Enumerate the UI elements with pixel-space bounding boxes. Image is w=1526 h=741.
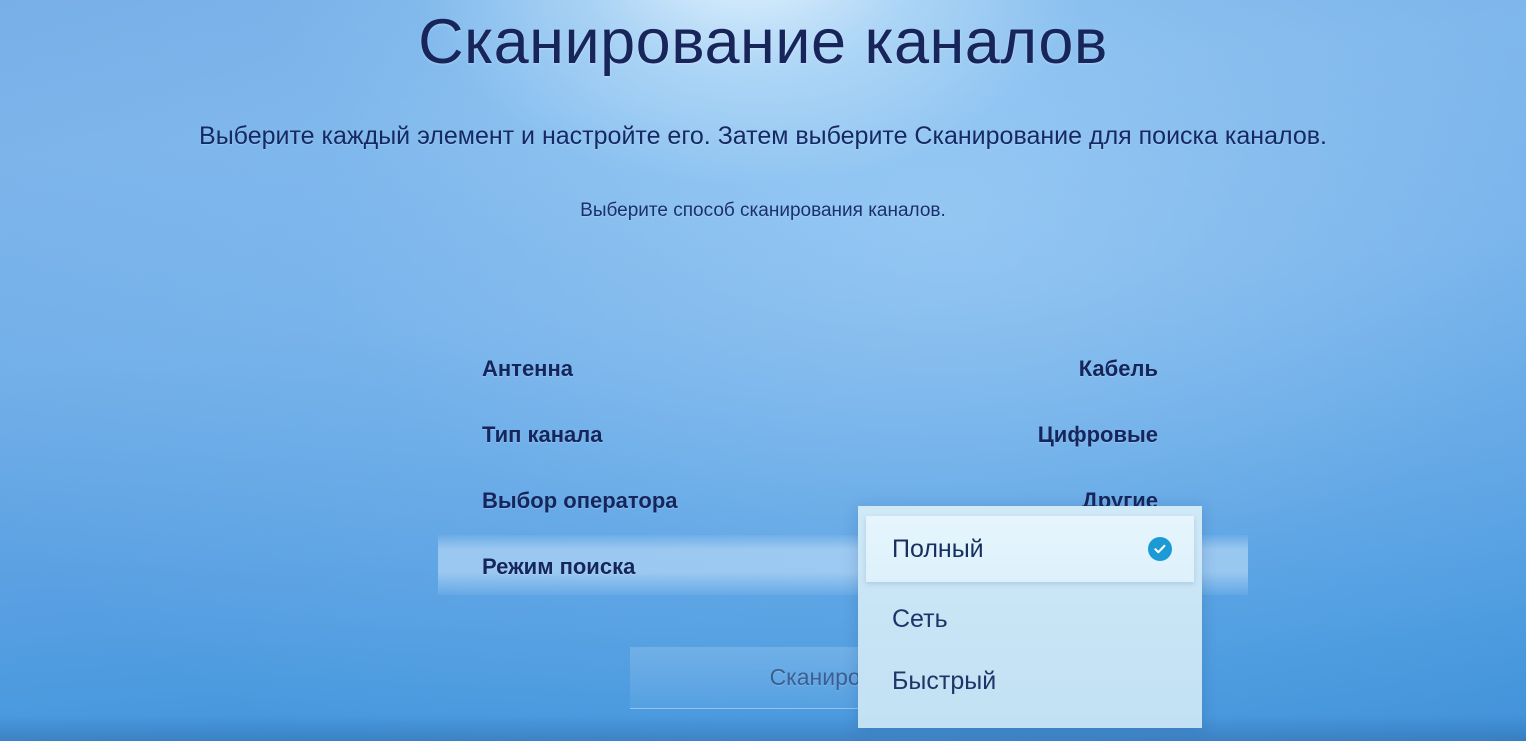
setting-label-channel-type: Тип канала [482, 422, 603, 448]
setting-label-operator: Выбор оператора [482, 488, 678, 514]
dropdown-option-full-label: Полный [892, 535, 984, 564]
page-hint: Выберите способ сканирования каналов. [313, 200, 1213, 222]
setting-label-search-mode: Режим поиска [482, 554, 635, 580]
setting-row-antenna[interactable]: Антенна Кабель [482, 336, 1158, 402]
setting-row-channel-type[interactable]: Тип канала Цифровые [482, 402, 1158, 468]
check-circle-icon [1148, 537, 1172, 561]
dropdown-option-full[interactable]: Полный [866, 516, 1194, 582]
dropdown-option-quick-label: Быстрый [892, 667, 996, 696]
setting-value-antenna: Кабель [1079, 356, 1158, 382]
setting-label-antenna: Антенна [482, 356, 573, 382]
search-mode-dropdown[interactable]: Полный Сеть Быстрый [858, 506, 1202, 728]
tv-channel-scan-screen: Сканирование каналов Выберите каждый эле… [0, 0, 1526, 741]
setting-value-channel-type: Цифровые [1038, 422, 1158, 448]
dropdown-option-network[interactable]: Сеть [858, 588, 1202, 650]
page-subtitle: Выберите каждый элемент и настройте его.… [158, 118, 1368, 154]
page-title: Сканирование каналов [0, 6, 1526, 78]
dropdown-option-network-label: Сеть [892, 605, 948, 634]
dropdown-option-quick[interactable]: Быстрый [858, 650, 1202, 712]
